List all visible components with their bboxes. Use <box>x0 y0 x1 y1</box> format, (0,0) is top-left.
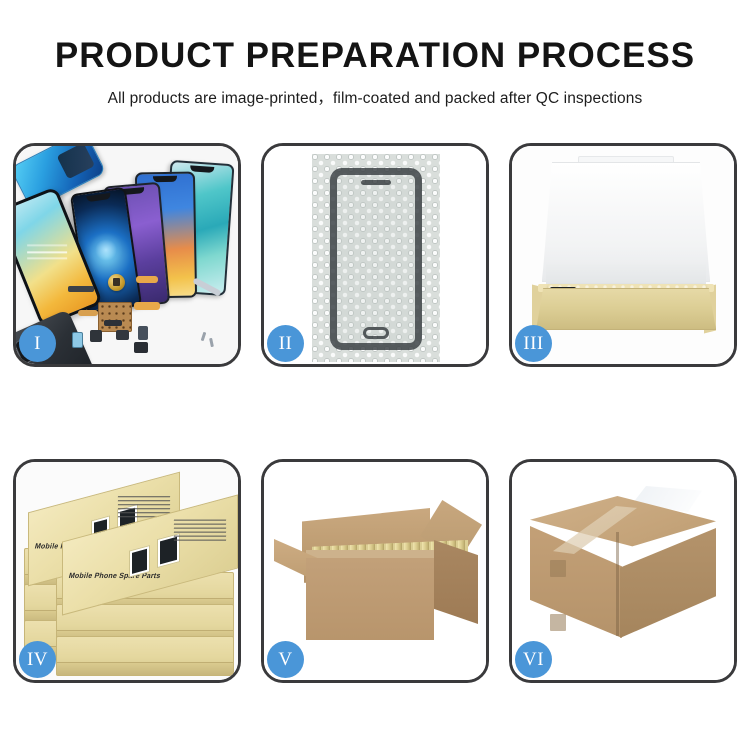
process-step-1: I <box>13 143 241 367</box>
page-subtitle: All products are image-printed，film-coat… <box>0 75 750 108</box>
coil-part <box>108 274 125 291</box>
bubble-wrap-photo <box>312 154 440 362</box>
speaker-part <box>134 342 148 353</box>
carton-tab <box>550 560 566 577</box>
box-edge <box>57 662 233 675</box>
square-part <box>138 326 148 340</box>
kraft-box-stack: Mobile Phone Spare Parts Mobile Phone Sp… <box>24 476 236 672</box>
header: PRODUCT PREPARATION PROCESS All products… <box>0 0 750 108</box>
small-dark-part <box>104 320 122 326</box>
carton-corner-seam <box>616 532 619 636</box>
square-part <box>116 330 129 340</box>
step-badge-2: II <box>267 325 304 362</box>
box-spec-lines <box>173 512 227 551</box>
camera-part <box>72 332 83 348</box>
step-badge-5: V <box>267 641 304 678</box>
step-badge-1: I <box>19 325 56 362</box>
chip-grid-part <box>98 302 132 332</box>
home-button <box>363 327 389 339</box>
phone-notch <box>153 176 177 182</box>
step-badge-3: III <box>515 325 552 362</box>
square-part <box>90 330 102 342</box>
process-step-4: Mobile Phone Spare Parts Mobile Phone Sp… <box>13 459 241 683</box>
page-title: PRODUCT PREPARATION PROCESS <box>0 0 750 75</box>
kraft-box-tray <box>536 288 716 330</box>
product-preparation-infographic: PRODUCT PREPARATION PROCESS All products… <box>0 0 750 750</box>
flex-cable-part <box>78 310 98 316</box>
process-step-6: VI <box>509 459 737 683</box>
process-step-2: II <box>261 143 489 367</box>
process-step-5: V <box>261 459 489 683</box>
step-badge-4: IV <box>19 641 56 678</box>
step-badge-6: VI <box>515 641 552 678</box>
flex-cable-part <box>134 302 160 310</box>
earpiece-slot <box>361 180 391 185</box>
kraft-box <box>56 636 234 676</box>
wrapped-screen <box>330 168 422 350</box>
box-phone-image <box>129 545 150 578</box>
phone-notch <box>190 165 214 173</box>
phone-notch <box>86 193 111 202</box>
flex-cable-part <box>136 276 158 283</box>
carton-front-face <box>306 558 434 640</box>
bar-part <box>68 286 94 292</box>
carton-tab <box>550 614 566 631</box>
process-step-3: III <box>509 143 737 367</box>
process-step-grid: I II <box>13 143 737 683</box>
